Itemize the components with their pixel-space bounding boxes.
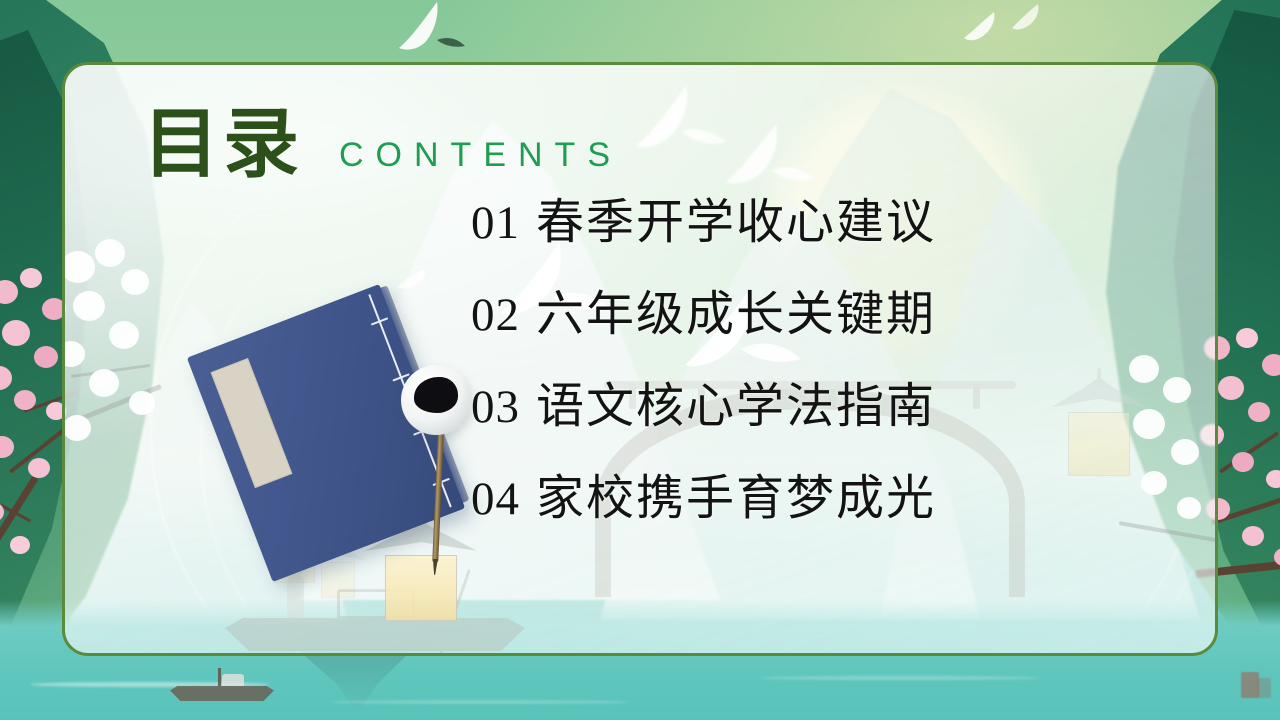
blossom-petal [10,536,30,554]
blossom-petal [1236,328,1258,348]
blossom-petal [1171,439,1199,465]
blossom-petal [109,321,139,349]
blossom-petal [1248,402,1270,422]
blossom-petal [63,415,91,441]
blossom-petal [2,320,30,346]
water-streak [760,676,1040,680]
blossom-petal [1266,470,1280,488]
toc-number: 04 [471,473,520,525]
blossom-petal [1163,377,1191,403]
blossom-petal [95,239,125,267]
toc-label: 六年级成长关键期 [536,288,936,341]
blossom-petal [0,280,18,304]
blossom-petal [121,269,149,295]
blossom-petal [20,268,42,288]
toc-label: 春季开学收心建议 [536,196,936,249]
ink-blob [414,377,458,413]
crane-bird-icon [1010,2,1054,32]
blossom-petal [1242,526,1264,546]
red-seal-stamp [1241,672,1259,698]
toc-label: 家校携手育梦成光 [536,472,936,525]
crane-bird-icon [395,265,443,291]
crane-bird-icon [395,0,481,58]
blossom-petal [1177,497,1201,519]
toc-number: 01 [471,197,520,249]
blossom-petal [34,346,58,368]
toc-item-01[interactable]: 01春季开学收心建议 [471,199,1091,247]
ghost-blossom-left [62,225,185,485]
blossom-petal [1232,452,1254,472]
mini-boat-hull [170,686,274,701]
page-title: 目录 [143,107,303,183]
ink-dish [401,365,471,435]
blossom-petal [0,436,14,458]
branch [1119,521,1218,542]
blossom-petal [0,366,12,390]
blossom-petal [62,251,95,283]
toc-item-02[interactable]: 02六年级成长关键期 [471,291,1091,339]
red-seal-stamp-secondary [1258,678,1271,698]
mini-boat-icon [170,672,274,704]
toc-number: 02 [471,289,520,341]
toc-label: 语文核心学法指南 [536,380,936,433]
toc-item-03[interactable]: 03语文核心学法指南 [471,383,1091,431]
toc-number: 03 [471,381,520,433]
mini-boat-sail [222,674,244,688]
blossom-petal [14,390,36,410]
boatman-body [287,575,304,619]
blossom-petal [129,391,155,415]
page-title-english: CONTENTS [339,136,622,175]
blossom-petal [1218,376,1244,400]
blossom-petal [28,458,50,478]
water-streak [330,700,630,704]
pavilion-body [385,555,457,621]
mini-boat-mast [218,668,221,688]
toc-item-04[interactable]: 04家校携手育梦成光 [471,475,1091,523]
blossom-petal [62,341,85,367]
blossom-petal [73,291,105,321]
content-frame: 目录 CONTENTS 01春季开学收心建议 02六年级成长关键期 03语文核心… [62,62,1218,656]
blossom-petal [89,369,119,397]
slide-root: 目录 CONTENTS 01春季开学收心建议 02六年级成长关键期 03语文核心… [0,0,1280,720]
table-of-contents: 01春季开学收心建议 02六年级成长关键期 03语文核心学法指南 04家校携手育… [471,199,1091,523]
blossom-petal [1262,354,1280,376]
